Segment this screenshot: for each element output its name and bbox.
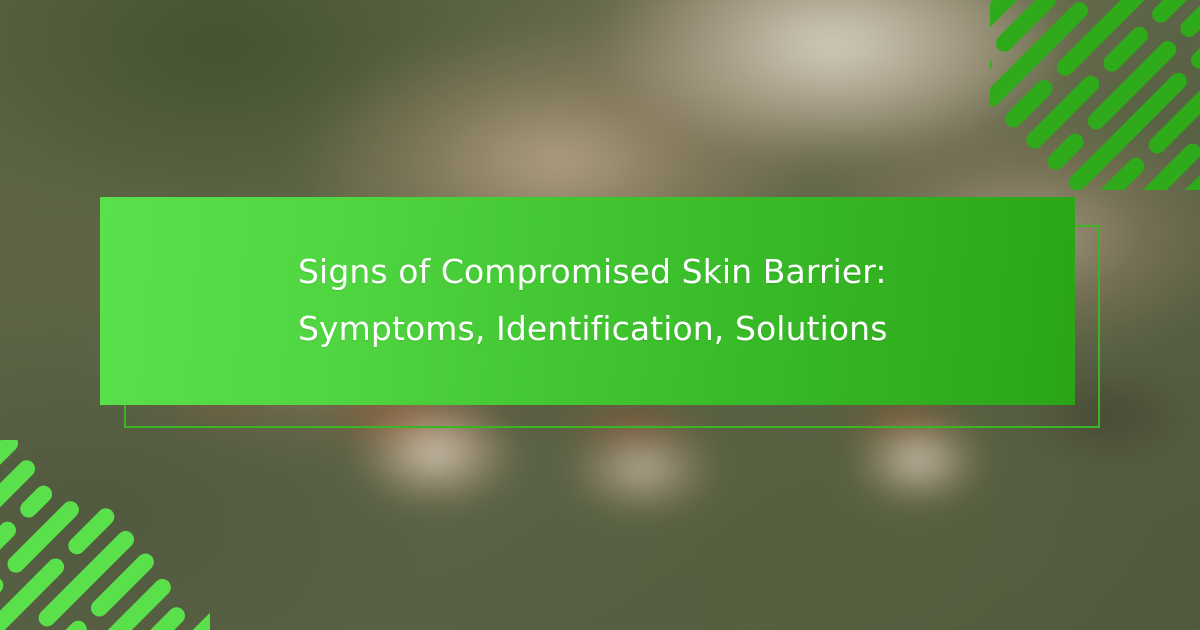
page-title: Signs of Compromised Skin Barrier: Sympt… [100,244,928,358]
share-card-canvas: Signs of Compromised Skin Barrier: Sympt… [0,0,1200,630]
title-line-2: Symptoms, Identification, Solutions [298,309,888,348]
title-line-1: Signs of Compromised Skin Barrier: [298,252,887,291]
title-card: Signs of Compromised Skin Barrier: Sympt… [100,197,1075,405]
